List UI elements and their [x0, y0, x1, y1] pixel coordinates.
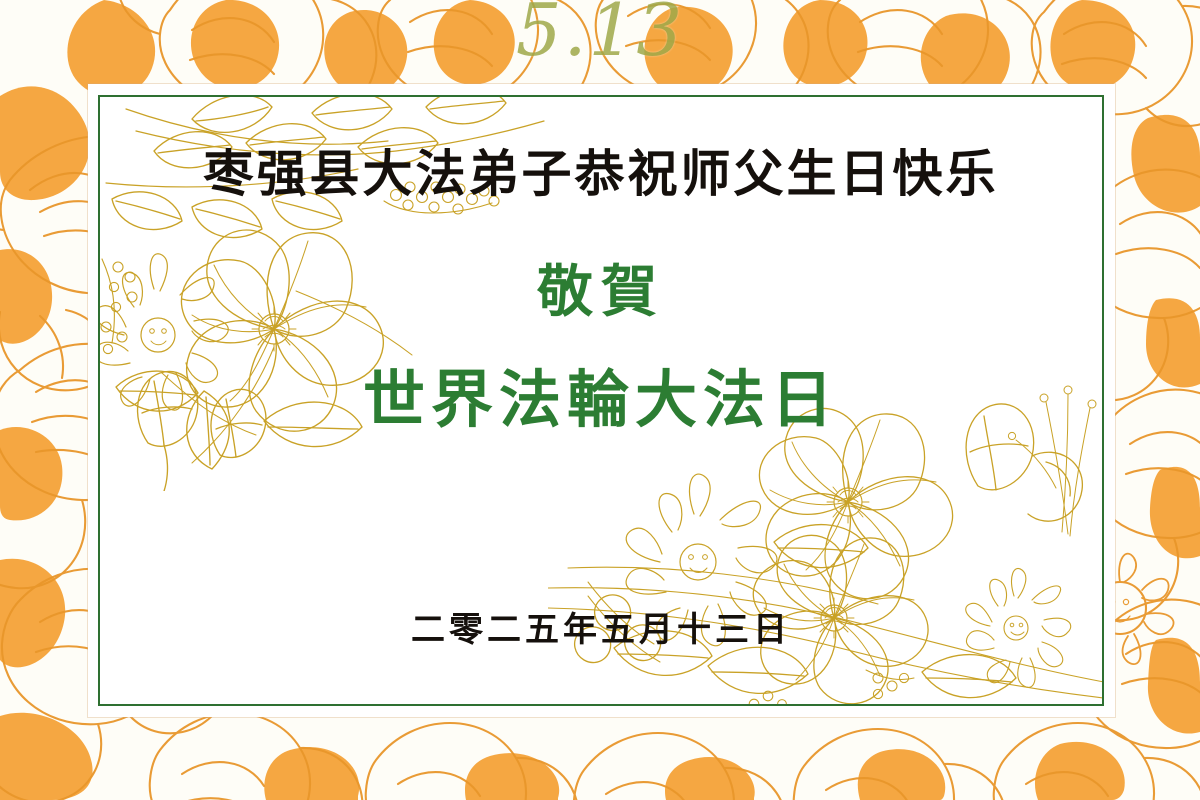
card-green-frame: 枣强县大法弟子恭祝师父生日快乐 敬賀 世界法輪大法日 二零二五年五月十三日 [98, 95, 1104, 706]
greeting-card: 枣强县大法弟子恭祝师父生日快乐 敬賀 世界法輪大法日 二零二五年五月十三日 [88, 84, 1115, 717]
card-greeting: 敬賀 [100, 265, 1102, 321]
card-image-canvas: 5.13 [0, 0, 1200, 800]
card-text-block: 枣强县大法弟子恭祝师父生日快乐 敬賀 世界法輪大法日 二零二五年五月十三日 [100, 97, 1102, 704]
card-date: 二零二五年五月十三日 [100, 613, 1102, 647]
card-headline: 枣强县大法弟子恭祝师父生日快乐 [100, 149, 1102, 199]
card-subject: 世界法輪大法日 [100, 369, 1102, 431]
